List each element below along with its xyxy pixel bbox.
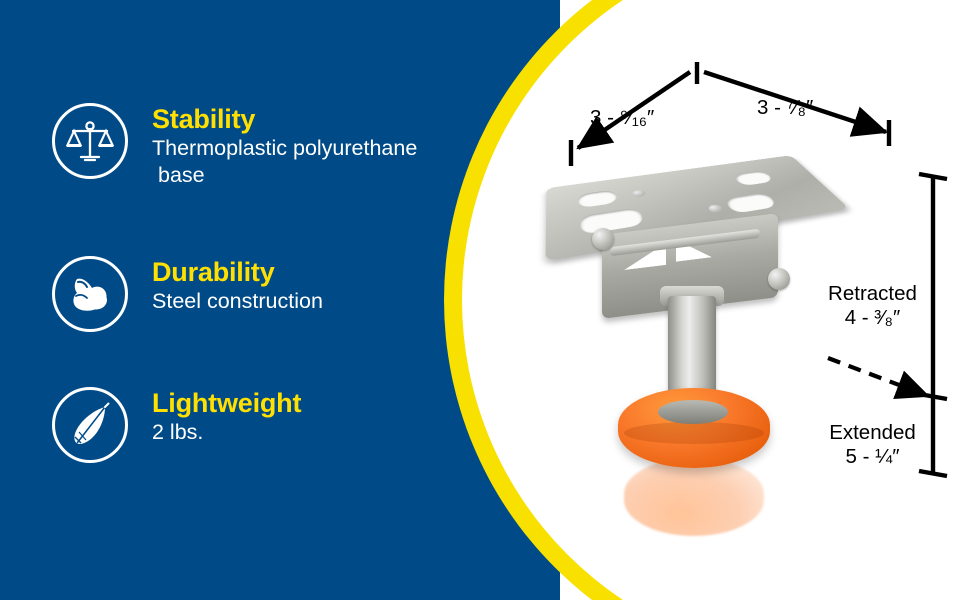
feature-description-line1: Steel construction bbox=[152, 289, 323, 313]
balance-scale-icon bbox=[52, 103, 128, 179]
feature-stability: Stability Thermoplastic polyurethane bas… bbox=[52, 103, 417, 188]
feature-title: Stability bbox=[152, 105, 417, 133]
dimension-top-right: 3 - ⁷⁄₈″ bbox=[757, 96, 813, 120]
extended-value: 5 - ¼″ bbox=[820, 445, 925, 469]
feature-title: Durability bbox=[152, 258, 323, 286]
feature-description: Steel construction bbox=[152, 288, 323, 314]
wheel-hub bbox=[658, 400, 728, 424]
feature-description-line1: Thermoplastic polyurethane bbox=[152, 136, 417, 160]
wheel-groove bbox=[624, 422, 764, 444]
feature-lightweight: Lightweight 2 lbs. bbox=[52, 387, 301, 463]
plate-bolt bbox=[632, 189, 647, 197]
plate-bolt bbox=[707, 204, 724, 213]
dimension-top-left: 3 - ⁹⁄₁₆″ bbox=[590, 106, 654, 130]
flexed-bicep-icon bbox=[52, 256, 128, 332]
plate-hole bbox=[733, 170, 775, 186]
retracted-value: 4 - ³⁄₈″ bbox=[820, 306, 925, 330]
feather-icon bbox=[52, 387, 128, 463]
plate-hole bbox=[577, 189, 618, 208]
assembly-bolt bbox=[592, 228, 614, 250]
feature-text-block: Durability Steel construction bbox=[152, 256, 323, 315]
extended-label: Extended bbox=[820, 421, 925, 445]
feature-description: 2 lbs. bbox=[152, 419, 301, 445]
assembly-bolt bbox=[768, 268, 790, 290]
feature-description-line2: base bbox=[152, 162, 417, 188]
feature-title: Lightweight bbox=[152, 389, 301, 417]
feature-text-block: Stability Thermoplastic polyurethane bas… bbox=[152, 103, 417, 188]
wheel-reflection bbox=[624, 458, 764, 536]
feature-durability: Durability Steel construction bbox=[52, 256, 323, 332]
infographic-canvas: Stability Thermoplastic polyurethane bas… bbox=[0, 0, 970, 600]
feature-text-block: Lightweight 2 lbs. bbox=[152, 387, 301, 446]
plate-hole bbox=[724, 192, 779, 214]
feature-description-line1: 2 lbs. bbox=[152, 420, 203, 444]
dimension-retracted: Retracted 4 - ³⁄₈″ bbox=[820, 282, 925, 330]
retracted-label: Retracted bbox=[820, 282, 925, 306]
feature-description: Thermoplastic polyurethane base bbox=[152, 135, 417, 187]
dimension-extended: Extended 5 - ¼″ bbox=[820, 421, 925, 469]
